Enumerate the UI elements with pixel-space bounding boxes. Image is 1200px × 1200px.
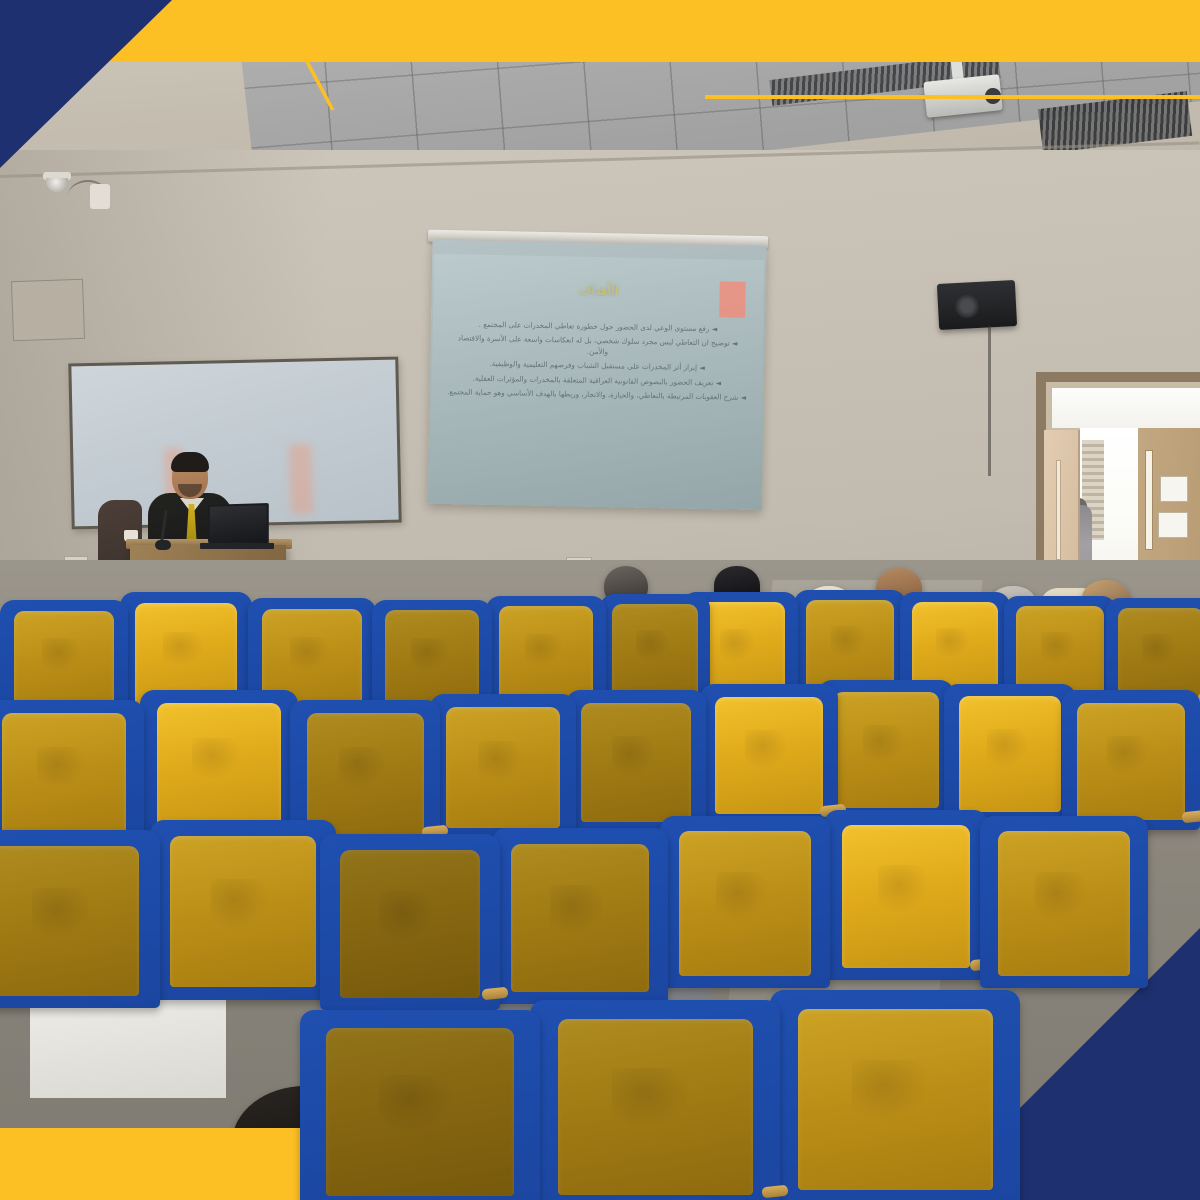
- chair-scuff: [1107, 736, 1150, 776]
- chair-seat-back: [581, 703, 690, 822]
- chair-seat-back: [1118, 608, 1200, 702]
- chair-scuff: [339, 747, 386, 789]
- chair-seat-back: [833, 692, 939, 808]
- door-vision-slot: [1145, 450, 1153, 550]
- chair-scuff: [550, 885, 605, 935]
- chair-scuff: [211, 879, 269, 930]
- auditorium-chair: [320, 834, 500, 1010]
- chair-seat-back: [0, 846, 139, 996]
- auditorium-chair: [150, 820, 336, 1000]
- chair-scuff: [1035, 872, 1087, 921]
- auditorium-chair: [140, 690, 298, 838]
- auditorium-chair: [0, 830, 160, 1008]
- auditorium-seating: [0, 560, 1200, 1200]
- chair-seat-back: [446, 707, 560, 828]
- auditorium-chair: [492, 828, 668, 1004]
- door-transom-window: [1052, 388, 1200, 428]
- chair-seat-back: [798, 1009, 993, 1190]
- chair-scuff: [32, 888, 91, 939]
- chair-scuff: [163, 632, 204, 667]
- chair-seat-back: [959, 696, 1062, 812]
- chair-scuff: [863, 725, 905, 764]
- chair-scuff: [720, 629, 756, 662]
- auditorium-chair: [700, 684, 838, 824]
- cctv-junction-box: [90, 184, 110, 209]
- chair-scuff: [290, 637, 330, 671]
- auditorium-chair: [660, 816, 830, 988]
- chair-scuff: [411, 638, 448, 671]
- slide-bullet-list: ◄ رفع مستوى الوعي لدى الحضور حول خطورة ت…: [445, 318, 749, 406]
- chair-scuff: [478, 741, 524, 782]
- laptop-base: [200, 543, 274, 549]
- door-notice-sheet: [1160, 476, 1188, 502]
- chair-seat-back: [307, 713, 424, 836]
- chair-scuff: [525, 634, 562, 667]
- chair-seat-back: [326, 1028, 513, 1196]
- wall-access-panel: [11, 279, 85, 341]
- poster-canvas: الأهداف ◄ رفع مستوى الوعي لدى الحضور حول…: [0, 0, 1200, 1200]
- chair-seat-back: [558, 1019, 753, 1195]
- chair-seat-back: [1077, 703, 1185, 821]
- projection-screen: الأهداف ◄ رفع مستوى الوعي لدى الحضور حول…: [427, 240, 766, 510]
- lecture-hall-photograph: الأهداف ◄ رفع مستوى الوعي لدى الحضور حول…: [0, 0, 1200, 1200]
- chair-scuff: [745, 730, 788, 770]
- auditorium-chair: [0, 700, 144, 846]
- chair-scuff: [42, 638, 82, 672]
- presenter-hair: [171, 452, 209, 472]
- auditorium-chair: [824, 810, 988, 980]
- chair-seat-back: [998, 831, 1129, 975]
- chair-scuff: [636, 630, 670, 662]
- door-notice-sheet: [1158, 512, 1188, 538]
- speaker-cable: [988, 326, 991, 476]
- microphone: [155, 540, 171, 550]
- whiteboard-smudge: [289, 444, 313, 515]
- auditorium-chair: [300, 1010, 540, 1200]
- chair-seat-back: [170, 836, 315, 987]
- auditorium-chair: [944, 684, 1076, 822]
- auditorium-chair: [980, 816, 1148, 988]
- chair-seat-back: [612, 604, 698, 698]
- chair-scuff: [852, 1060, 930, 1121]
- chair-seat-back: [14, 611, 114, 710]
- auditorium-chair: [566, 690, 706, 832]
- chair-seat-back: [2, 713, 127, 836]
- chair-seat-back: [340, 850, 480, 998]
- chair-seat-back: [157, 703, 280, 827]
- chair-scuff: [612, 1068, 690, 1128]
- chair-scuff: [37, 747, 87, 789]
- projected-slide: الأهداف ◄ رفع مستوى الوعي لدى الحضور حول…: [430, 254, 764, 492]
- auditorium-chair: [770, 990, 1020, 1200]
- auditorium-chair: [1062, 690, 1200, 830]
- chair-scuff: [878, 865, 929, 914]
- auditorium-chair: [818, 680, 954, 818]
- door-vision-slot: [1056, 460, 1061, 560]
- slide-bullet: ◄ توضيح ان التعاطي ليس مجرد سلوك شخصي، ب…: [446, 332, 748, 360]
- chair-scuff: [987, 729, 1028, 768]
- chair-scuff: [831, 626, 866, 658]
- chair-scuff: [612, 736, 656, 777]
- chair-seat-back: [679, 831, 812, 975]
- auditorium-chair: [530, 1000, 780, 1200]
- chair-scuff: [379, 1075, 454, 1132]
- chair-scuff: [1041, 632, 1076, 664]
- auditorium-chair: [430, 694, 576, 838]
- chair-scuff: [716, 872, 769, 921]
- chair-seat-back: [715, 697, 823, 815]
- chair-seat-back: [511, 844, 648, 992]
- slide-title: الأهداف: [434, 280, 764, 300]
- slide-bullet: ◄ شرح العقوبات المرتبطة بالتعاطي، والحيا…: [446, 386, 748, 403]
- laptop-screen: [208, 503, 269, 545]
- chair-scuff: [936, 628, 970, 659]
- chair-scuff: [192, 738, 241, 780]
- chair-scuff: [1142, 634, 1176, 666]
- chair-seat-back: [842, 825, 970, 968]
- speaker-cone: [955, 294, 979, 318]
- chair-scuff: [379, 891, 435, 941]
